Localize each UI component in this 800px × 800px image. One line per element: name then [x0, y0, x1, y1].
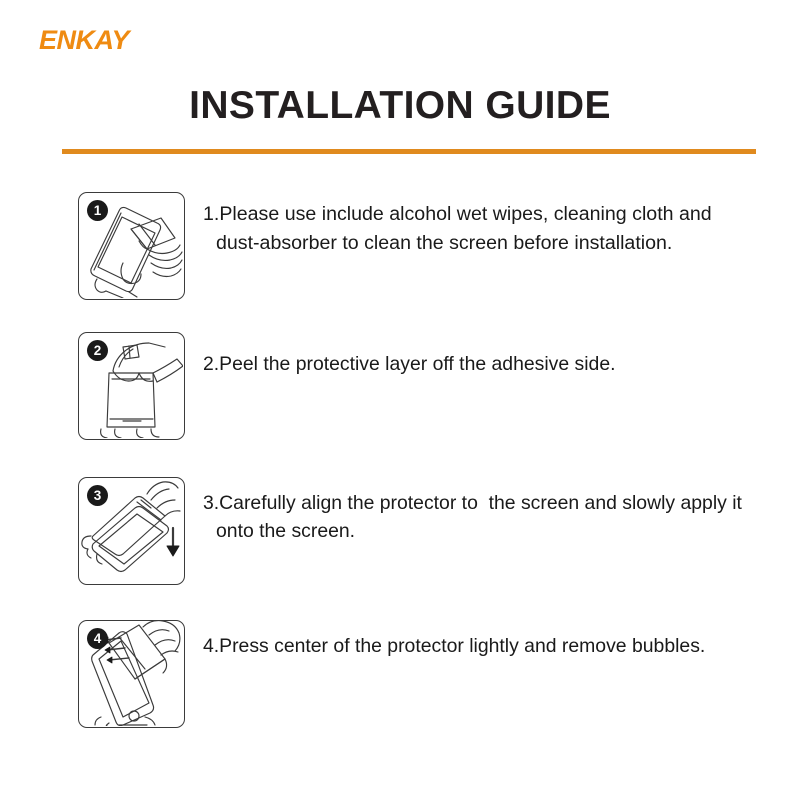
installation-guide-page: ENKAY INSTALLATION GUIDE 1: [0, 0, 800, 800]
enkay-brand-logo: ENKAY: [39, 27, 129, 54]
step-2-number-badge: 2: [87, 340, 108, 361]
step-1-number-badge: 1: [87, 200, 108, 221]
step-2-text: 2.Peel the protective layer off the adhe…: [203, 350, 776, 378]
step-4-illustration-box: 4: [78, 620, 185, 728]
step-1-text: 1.Please use include alcohol wet wipes, …: [203, 200, 716, 258]
page-title: INSTALLATION GUIDE: [0, 86, 800, 127]
step-1-illustration-box: 1: [78, 192, 185, 300]
step-4-number-badge: 4: [87, 628, 108, 649]
step-3-text: 3.Carefully align the protector to the s…: [203, 489, 776, 545]
step-2-illustration-box: 2: [78, 332, 185, 440]
step-3-illustration-box: 3: [78, 477, 185, 585]
step-3-number-badge: 3: [87, 485, 108, 506]
step-4-text: 4.Press center of the protector lightly …: [203, 632, 776, 660]
title-divider: [62, 149, 756, 154]
